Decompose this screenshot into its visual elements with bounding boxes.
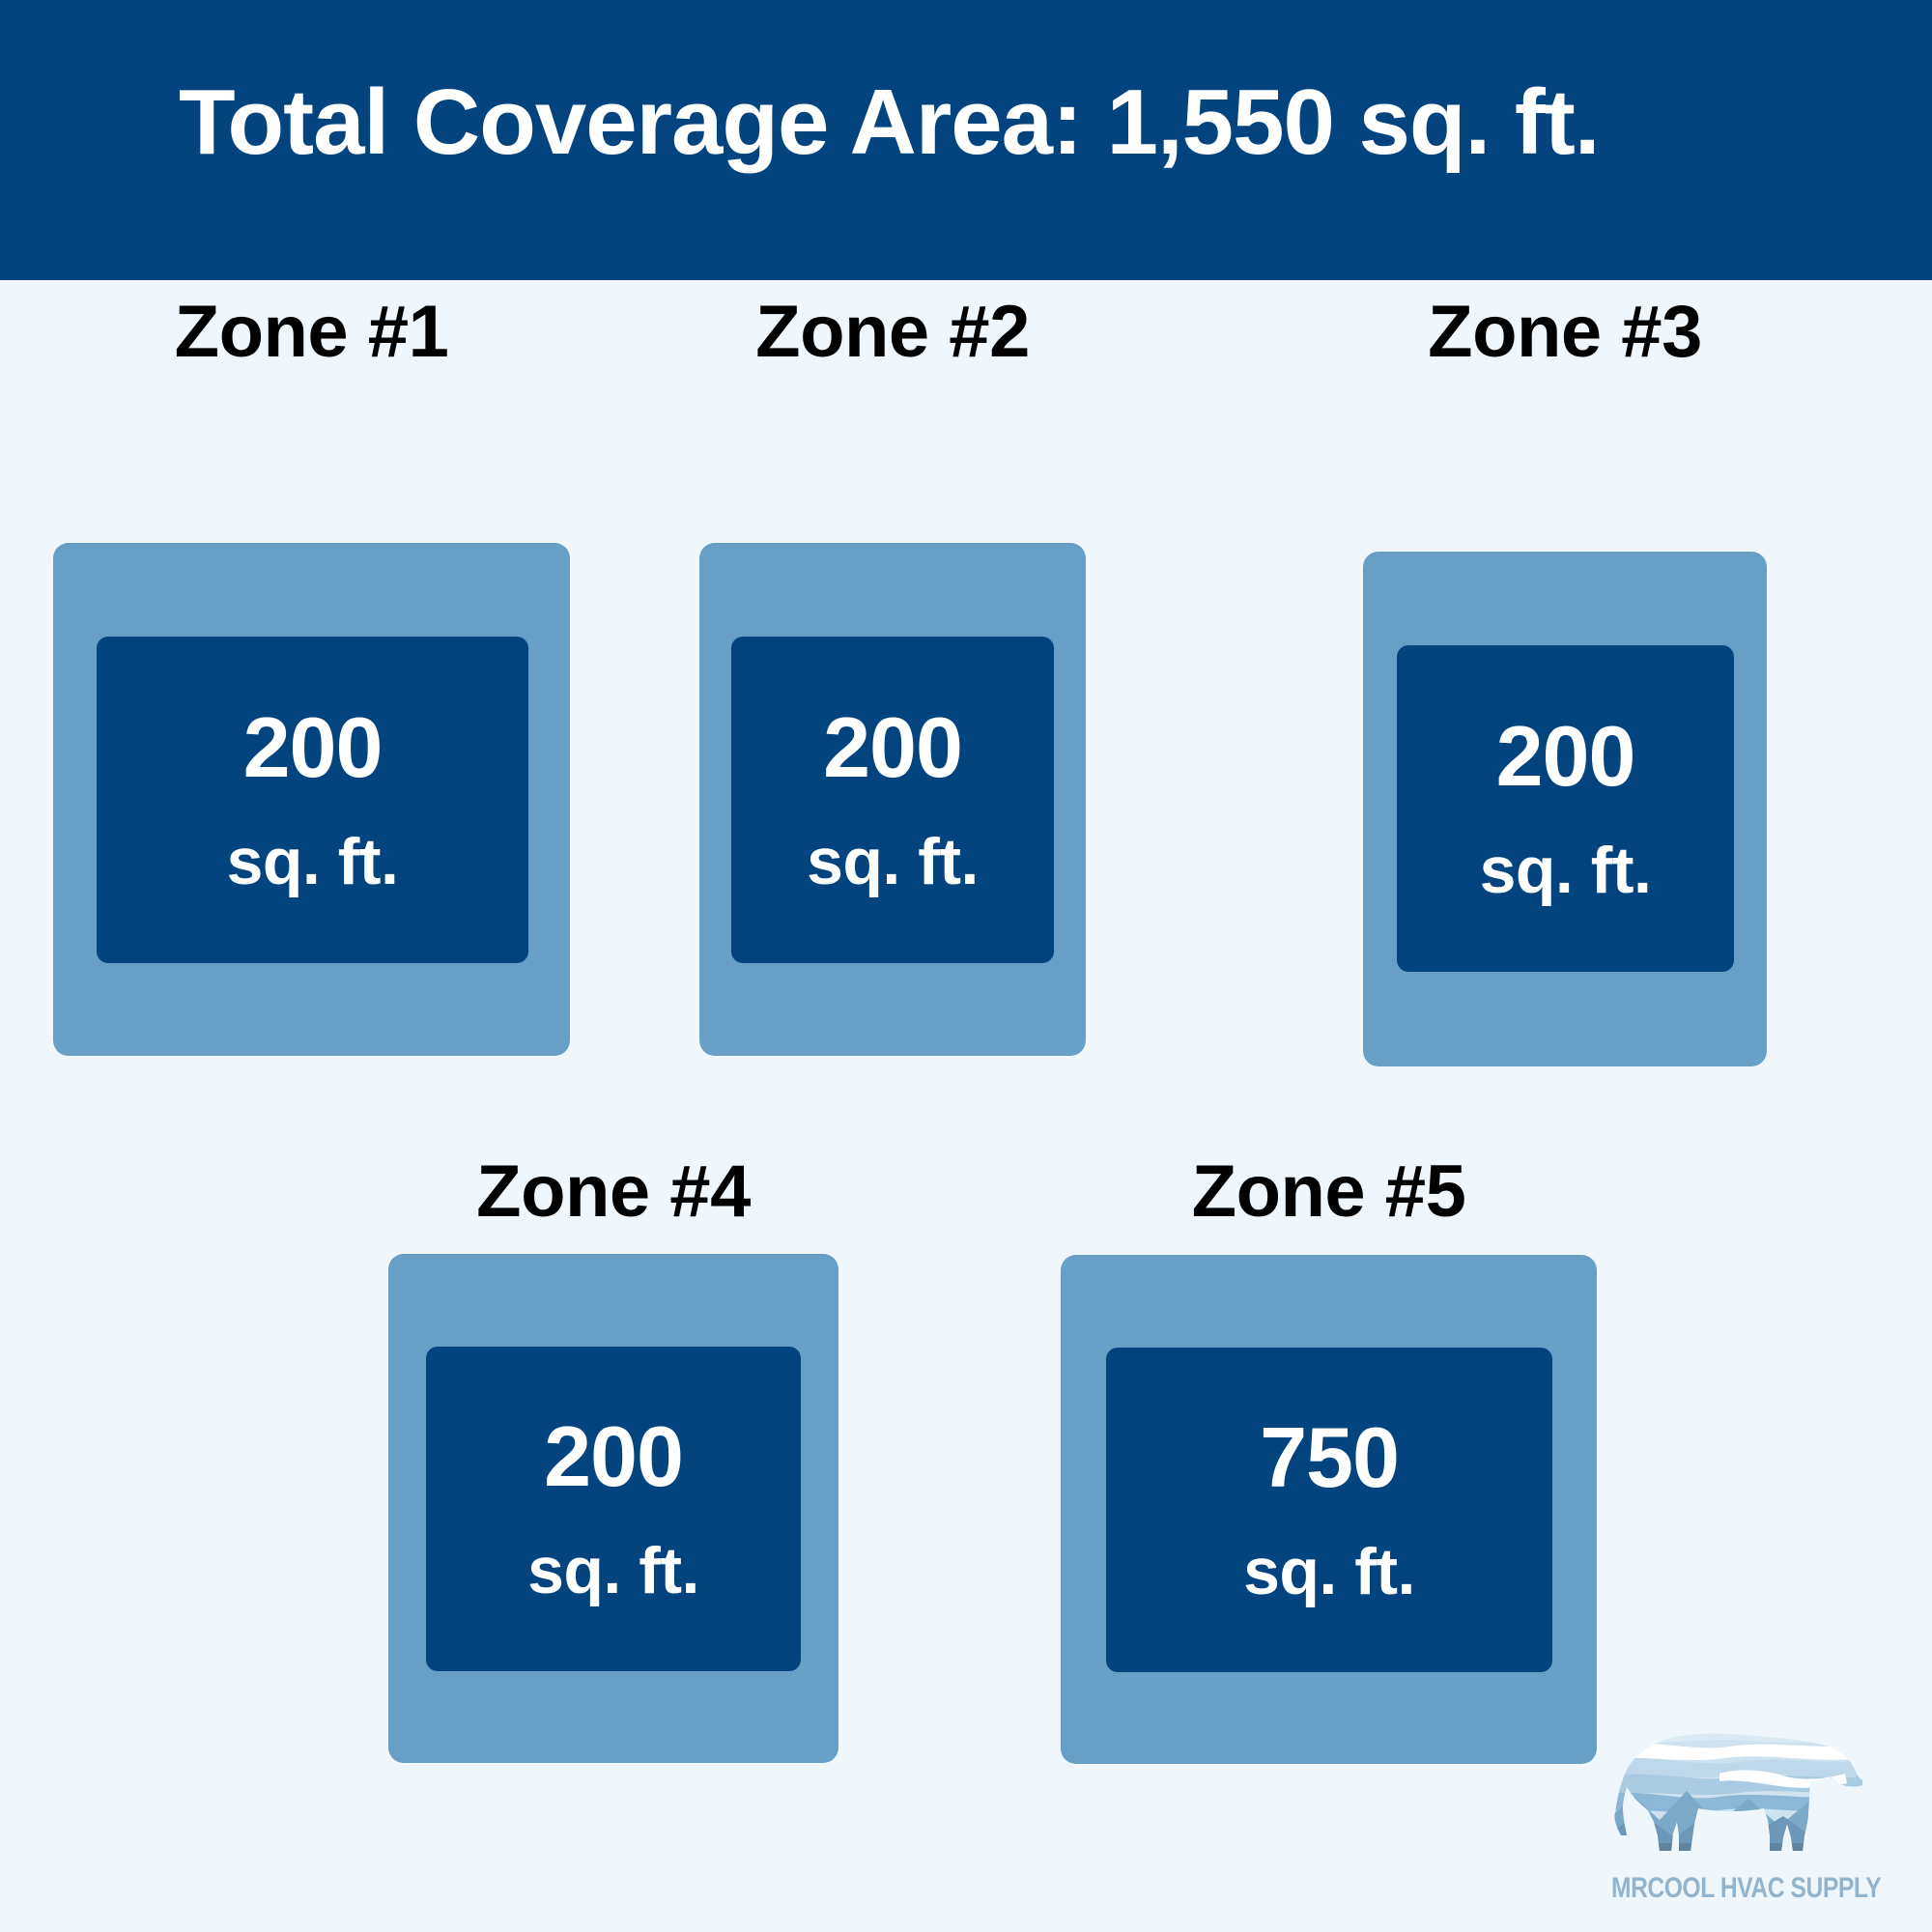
zone-label-4: Zone #4: [388, 1150, 838, 1234]
zone-inner-tile-2: 200 sq. ft.: [731, 637, 1054, 963]
zone-outer-tile-2: 200 sq. ft.: [699, 543, 1086, 1056]
zone-unit-5: sq. ft.: [1243, 1539, 1415, 1605]
zone-value-3: 200: [1496, 714, 1635, 799]
zone-outer-tile-5: 750 sq. ft.: [1061, 1255, 1597, 1764]
zone-outer-tile-4: 200 sq. ft.: [388, 1254, 838, 1763]
zone-label-5: Zone #5: [1061, 1150, 1597, 1234]
zone-card-5[interactable]: Zone #5 750 sq. ft.: [1061, 1150, 1597, 1764]
zone-outer-tile-3: 200 sq. ft.: [1363, 552, 1767, 1066]
brand-logo: MRCOOL HVAC SUPPLY: [1604, 1719, 1903, 1918]
zone-label-2: Zone #2: [699, 290, 1086, 374]
zone-value-1: 200: [243, 705, 383, 790]
zone-unit-2: sq. ft.: [807, 829, 979, 895]
polar-bear-icon: [1604, 1719, 1864, 1869]
brand-logo-text: MRCOOL HVAC SUPPLY: [1611, 1872, 1841, 1905]
zone-inner-tile-4: 200 sq. ft.: [426, 1347, 801, 1671]
zone-card-2[interactable]: Zone #2 200 sq. ft.: [699, 280, 1086, 1065]
zone-value-5: 750: [1260, 1415, 1399, 1500]
zone-inner-tile-5: 750 sq. ft.: [1106, 1348, 1552, 1672]
zone-label-1: Zone #1: [53, 290, 570, 374]
zone-card-1[interactable]: Zone #1 200 sq. ft.: [53, 280, 570, 1065]
header-banner: Total Coverage Area: 1,550 sq. ft.: [0, 0, 1932, 280]
zone-unit-4: sq. ft.: [527, 1538, 699, 1604]
zones-container: Zone #1 200 sq. ft. Zone #2 200 sq. ft. …: [0, 280, 1932, 1932]
zone-unit-1: sq. ft.: [227, 829, 399, 895]
zone-inner-tile-3: 200 sq. ft.: [1397, 645, 1734, 972]
page-title: Total Coverage Area: 1,550 sq. ft.: [179, 70, 1821, 176]
zone-outer-tile-1: 200 sq. ft.: [53, 543, 570, 1056]
zone-inner-tile-1: 200 sq. ft.: [97, 637, 528, 963]
zone-value-4: 200: [544, 1414, 683, 1499]
zone-unit-3: sq. ft.: [1480, 838, 1652, 903]
zone-value-2: 200: [823, 705, 962, 790]
zone-label-3: Zone #3: [1363, 290, 1767, 374]
zone-card-4[interactable]: Zone #4 200 sq. ft.: [388, 1150, 838, 1763]
zone-card-3[interactable]: Zone #3 200 sq. ft.: [1363, 280, 1767, 1076]
